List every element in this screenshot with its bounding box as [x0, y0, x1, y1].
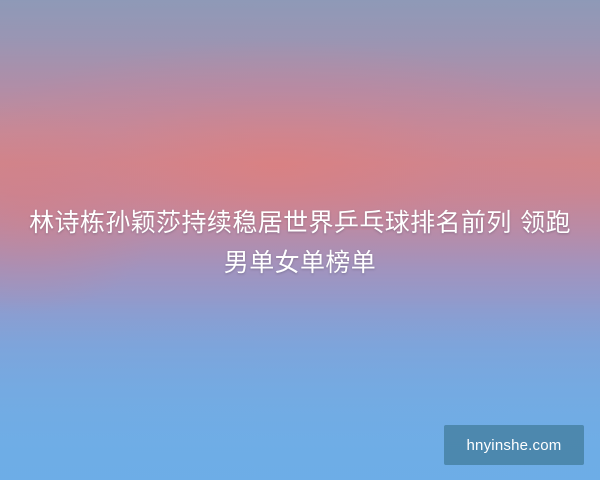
watermark-text: hnyinshe.com — [467, 437, 562, 454]
poster-image: 林诗栋孙颖莎持续稳居世界乒乓球排名前列 领跑男单女单榜单 hnyinshe.co… — [0, 0, 600, 480]
warm-glow-overlay — [0, 0, 600, 230]
poster-headline: 林诗栋孙颖莎持续稳居世界乒乓球排名前列 领跑男单女单榜单 — [0, 203, 600, 283]
watermark-badge: hnyinshe.com — [444, 425, 584, 465]
